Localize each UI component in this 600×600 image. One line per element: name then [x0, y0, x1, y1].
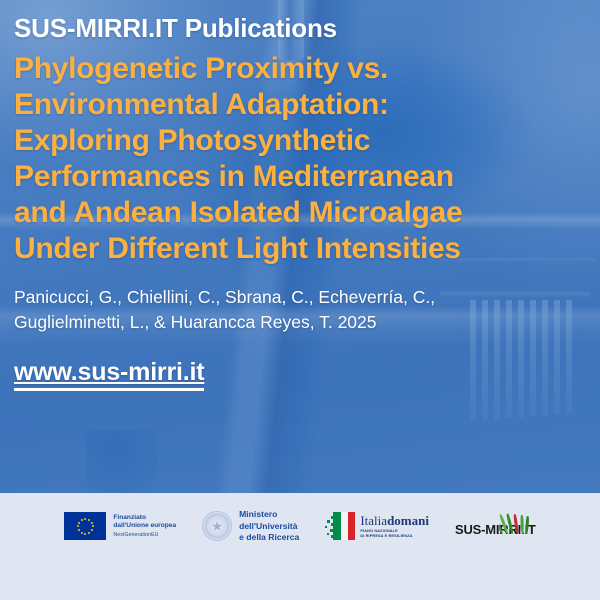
kicker-label: SUS-MIRRI.IT Publications	[14, 14, 582, 44]
flag-dot-decoration	[327, 533, 329, 535]
eu-funding-logo: Finanziato dall'Unione europea NextGener…	[64, 512, 176, 540]
wordmark-part-1: Italia	[360, 513, 387, 528]
website-link[interactable]: www.sus-mirri.it	[14, 358, 204, 391]
eu-star-icon	[92, 525, 94, 527]
eu-star-icon	[88, 532, 90, 534]
italiadomani-subtitle: PIANO NAZIONALE DI RIPRESA E RESILIENZA	[360, 529, 429, 539]
eu-star-icon	[84, 533, 86, 535]
authors-line: Panicucci, G., Chiellini, C., Sbrana, C.…	[14, 285, 514, 336]
italian-flag-icon	[325, 511, 355, 541]
eu-star-icon	[91, 522, 93, 524]
eu-line-1: Finanziato	[113, 514, 176, 523]
italiadomani-wordmark: Italiadomani	[360, 514, 429, 527]
footer-logo-bar: Finanziato dall'Unione europea NextGener…	[0, 493, 600, 600]
eu-star-icon	[88, 519, 90, 521]
eu-star-icon	[77, 525, 79, 527]
sus-mirri-logo: SUS-MIRRI.IT	[455, 516, 536, 537]
ministero-logo: Ministero dell'Università e della Ricerc…	[202, 509, 299, 544]
publication-title: Phylogenetic Proximity vs. Environmental…	[14, 51, 514, 267]
wheat-leaf-icon	[499, 512, 533, 534]
eu-line-3: NextGenerationEU	[113, 532, 176, 539]
flag-dot-decoration	[325, 526, 327, 528]
italian-republic-emblem-icon	[202, 511, 232, 541]
eu-flag-icon	[64, 512, 106, 540]
italiadomani-logo: Italiadomani PIANO NAZIONALE DI RIPRESA …	[325, 511, 429, 541]
flag-bars	[333, 512, 355, 540]
leaf-stroke-decoration	[520, 515, 524, 534]
eu-star-icon	[91, 529, 93, 531]
logo-row: Finanziato dall'Unione europea NextGener…	[0, 493, 600, 544]
eu-funding-text: Finanziato dall'Unione europea NextGener…	[113, 514, 176, 539]
flag-dot-decoration	[327, 520, 329, 522]
eu-star-icon	[78, 529, 80, 531]
eu-star-icon	[81, 519, 83, 521]
publication-announcement-poster: SUS-MIRRI.IT Publications Phylogenetic P…	[0, 0, 600, 600]
ministero-line-2: dell'Università	[239, 521, 299, 533]
poster-text-content: SUS-MIRRI.IT Publications Phylogenetic P…	[0, 0, 600, 493]
ministero-line-1: Ministero	[239, 509, 299, 521]
wordmark-part-2: domani	[387, 513, 429, 528]
leaf-stroke-decoration	[513, 514, 519, 534]
italiadomani-text: Italiadomani PIANO NAZIONALE DI RIPRESA …	[360, 514, 429, 539]
subtitle-line-2: DI RIPRESA E RESILIENZA	[360, 534, 429, 539]
eu-line-2: dall'Unione europea	[113, 522, 176, 531]
ministero-line-3: e della Ricerca	[239, 532, 299, 544]
eu-star-icon	[78, 522, 80, 524]
ministero-text: Ministero dell'Università e della Ricerc…	[239, 509, 299, 544]
eu-star-icon	[81, 532, 83, 534]
leaf-stroke-decoration	[525, 516, 529, 534]
eu-star-icon	[84, 518, 86, 520]
